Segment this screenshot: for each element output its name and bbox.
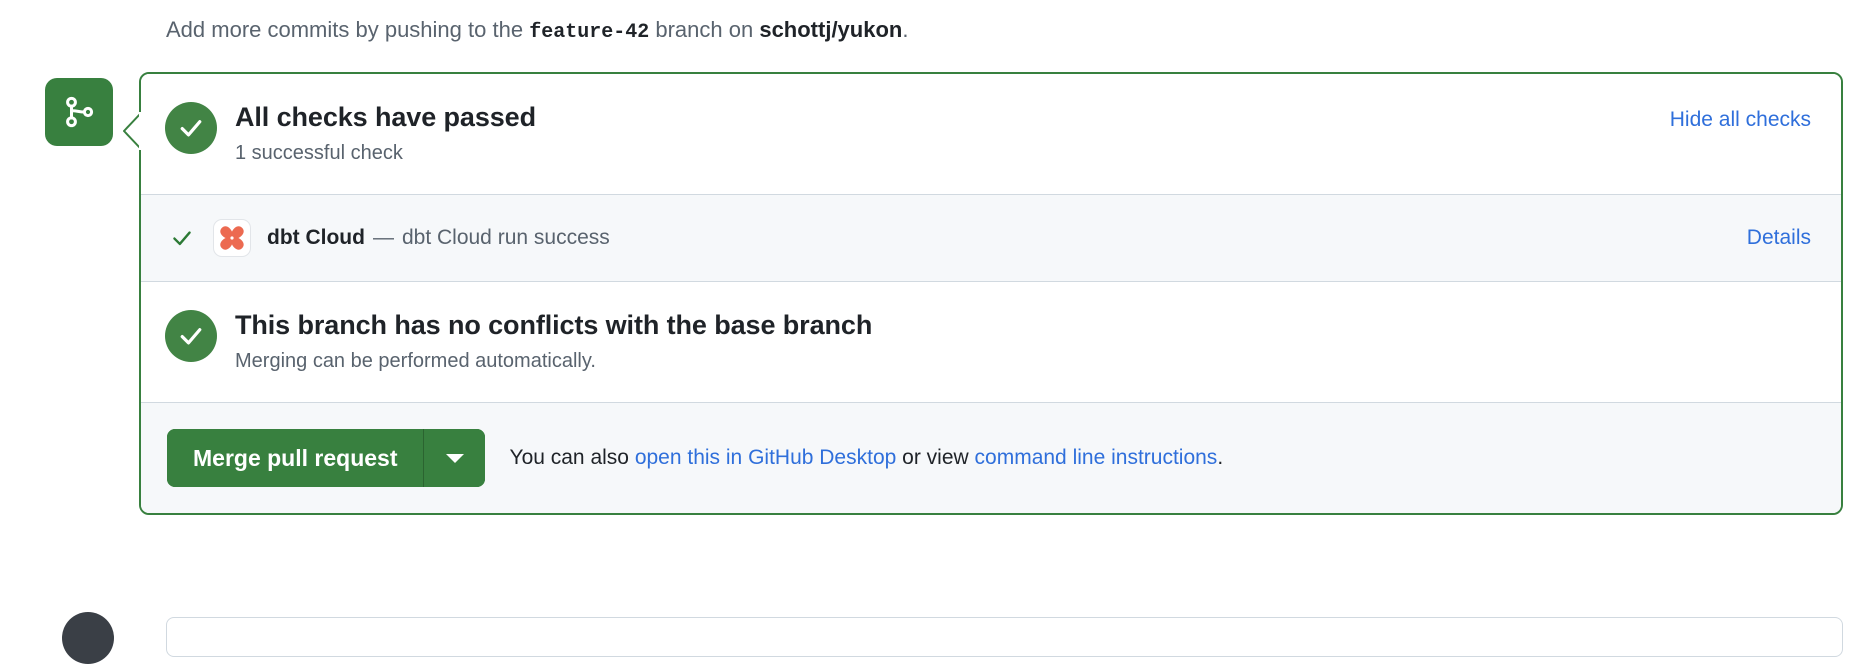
check-description: dbt Cloud run success [402,226,610,250]
check-list-section: dbt Cloud — dbt Cloud run success Detail… [141,194,1841,281]
timeline-avatar [62,612,114,664]
push-hint-prefix: Add more commits by pushing to the [166,17,523,42]
chevron-down-icon [446,454,464,463]
push-hint-suffix: . [902,17,908,42]
pull-request-status-badge [45,78,113,146]
hide-all-checks-link[interactable]: Hide all checks [1670,108,1811,132]
conflicts-section: This branch has no conflicts with the ba… [141,281,1841,402]
next-timeline-item [166,617,1843,657]
check-icon [169,225,195,251]
check-details-link[interactable]: Details [1747,226,1811,250]
merge-box-arrow [122,112,142,150]
merge-options-dropdown-button[interactable] [423,429,485,487]
check-status-icon [165,225,199,251]
merge-action-section: Merge pull request You can also open thi… [141,402,1841,513]
conflicts-title: This branch has no conflicts with the ba… [235,308,1811,342]
dbt-logo-glyph [217,223,247,253]
check-separator: — [373,226,394,250]
merge-note-suffix: . [1217,446,1223,469]
checks-summary-subtitle: 1 successful check [235,138,1670,168]
conflicts-subtitle: Merging can be performed automatically. [235,346,1811,376]
dbt-cloud-icon [213,219,251,257]
git-pull-request-icon [61,94,97,130]
merge-box: All checks have passed 1 successful chec… [139,72,1843,515]
check-app-name: dbt Cloud [267,226,365,250]
no-conflicts-status-icon [165,310,217,362]
command-line-instructions-link[interactable]: command line instructions [975,446,1218,469]
push-hint-middle: branch on [655,17,753,42]
merge-note-prefix: You can also [509,446,629,469]
branch-name: feature-42 [529,21,649,44]
open-in-github-desktop-link[interactable]: open this in GitHub Desktop [635,446,896,469]
repository-name: schottj/yukon [759,17,902,42]
checks-passed-status-icon [165,102,217,154]
push-commits-hint: Add more commits by pushing to the featu… [166,14,908,49]
merge-note-middle: or view [902,446,969,469]
check-icon [176,321,206,351]
checks-summary-title: All checks have passed [235,100,1670,134]
merge-button-group: Merge pull request [167,429,485,487]
merge-alternatives-note: You can also open this in GitHub Desktop… [509,443,1223,473]
merge-pull-request-button[interactable]: Merge pull request [167,429,423,487]
check-row: dbt Cloud — dbt Cloud run success Detail… [141,195,1841,281]
checks-summary-section: All checks have passed 1 successful chec… [141,74,1841,194]
check-icon [176,113,206,143]
